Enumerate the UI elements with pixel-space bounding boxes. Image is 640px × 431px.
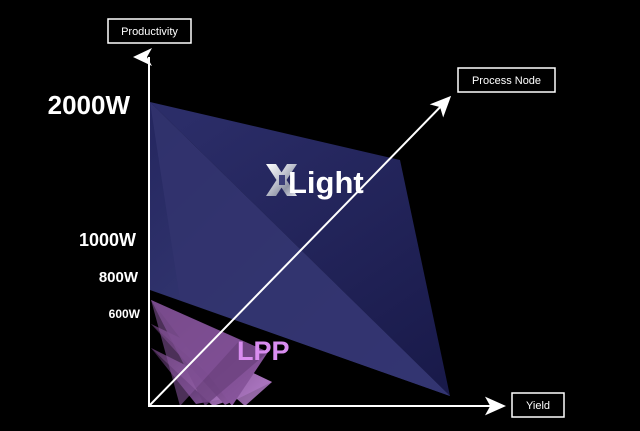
diagonal-axis-label-box: Process Node <box>458 68 555 92</box>
y-tick-label-2000w: 2000W <box>48 90 131 120</box>
x-axis-label-text: Yield <box>526 400 550 412</box>
x-logo-notch <box>279 175 285 185</box>
figure-canvas: 2000W 1000W 800W 600W Productivity Proce… <box>0 0 640 431</box>
y-tick-label-600w: 600W <box>109 307 141 321</box>
productivity-yield-process-node-chart: 2000W 1000W 800W 600W Productivity Proce… <box>0 0 640 431</box>
y-axis-label-text: Productivity <box>121 26 178 38</box>
series-label-lpp: LPP <box>237 336 290 366</box>
y-tick-label-1000w: 1000W <box>79 230 136 250</box>
x-axis-label-box: Yield <box>512 393 564 417</box>
brand-wordmark-text: Light <box>288 165 364 200</box>
y-axis-label-box: Productivity <box>108 19 191 43</box>
y-tick-label-800w: 800W <box>99 269 139 286</box>
diagonal-axis-label-text: Process Node <box>472 75 541 87</box>
